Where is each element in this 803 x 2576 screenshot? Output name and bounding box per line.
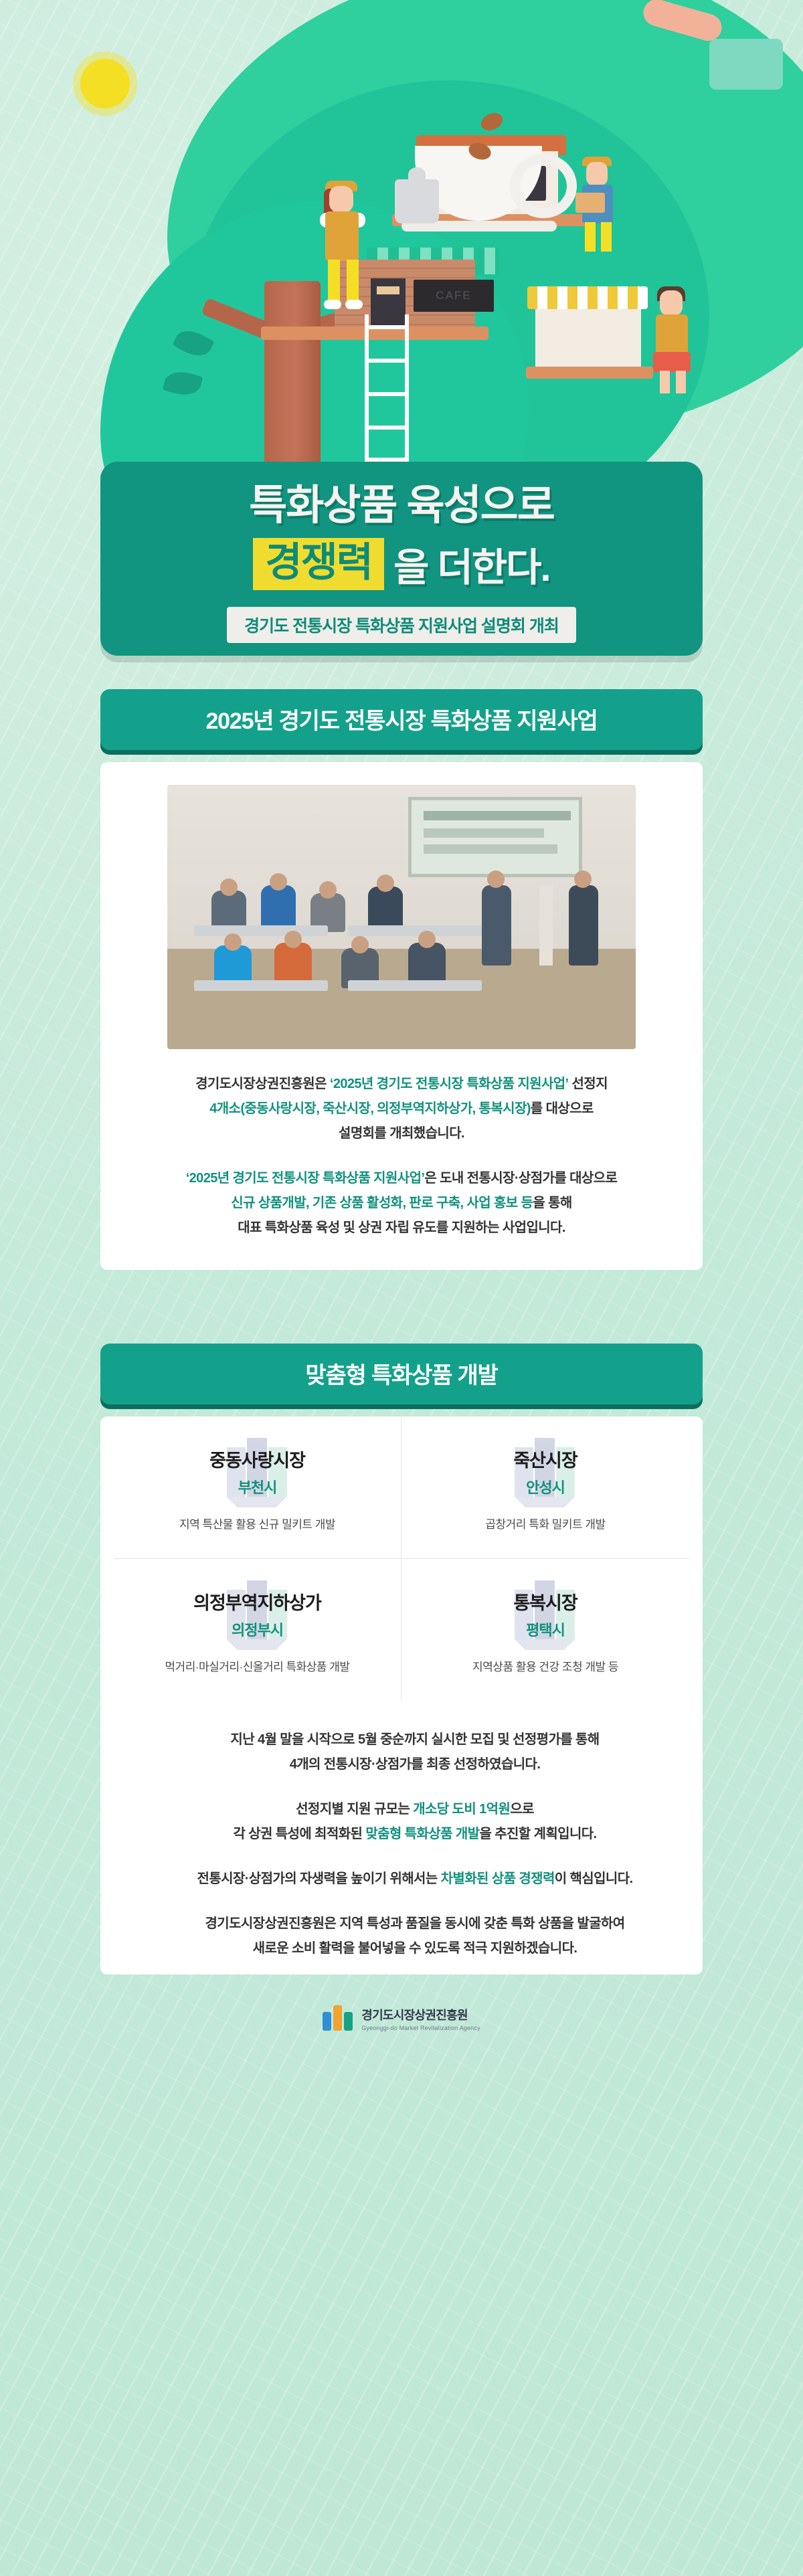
p1-l2-a: 4개소(중동사랑시장, 죽산시장, 의정부역지하상가, 통복시장) bbox=[209, 1101, 531, 1116]
watering-can-icon bbox=[709, 39, 783, 90]
c-p2-l1-c: 으로 bbox=[510, 1802, 534, 1817]
market-name: 중동사랑시장 bbox=[120, 1446, 394, 1472]
attendee-head bbox=[270, 873, 287, 891]
title-line-2-rest: 을 더한다. bbox=[393, 536, 550, 592]
p1-l3: 설명회를 개최했습니다. bbox=[339, 1126, 464, 1141]
baker-head bbox=[586, 162, 608, 186]
grocer-head bbox=[660, 290, 683, 316]
c-p2-l2-c: 을 추진할 계획입니다. bbox=[479, 1827, 596, 1841]
market-name: 의정부역지하상가 bbox=[120, 1588, 394, 1615]
title-highlight: 경쟁력 bbox=[253, 538, 384, 590]
organization-logo: 경기도시장상권진흥원 Gyeonggi-do Market Revitaliza… bbox=[323, 2005, 480, 2032]
attendee-head bbox=[224, 933, 242, 951]
section-support-program: 2025년 경기도 전통시장 특화상품 지원사업 bbox=[0, 689, 803, 1270]
p2-l2-b: 을 통해 bbox=[533, 1196, 571, 1210]
grocer-skirt bbox=[653, 352, 691, 372]
section-custom-products: 맞춤형 특화상품 개발 중동사랑시장 부천시 지역 특산물 활용 신규 밀키트 … bbox=[0, 1344, 803, 1974]
barista-shoe bbox=[345, 300, 363, 309]
presenter-head bbox=[574, 870, 592, 888]
c-p1-l1: 지난 4월 말을 시작으로 5월 중순까지 실시한 모집 및 선정평가를 통해 bbox=[230, 1732, 599, 1747]
closing-paragraph-2: 선정지별 지원 규모는 개소당 도비 1억원으로 각 상권 특성에 최적화된 맞… bbox=[141, 1797, 689, 1847]
sun-icon bbox=[80, 59, 130, 108]
hand-arm bbox=[640, 0, 725, 44]
grocer-leg bbox=[660, 371, 670, 393]
p1-l1-b: ‘2025년 경기도 전통시장 특화상품 지원사업’ bbox=[330, 1077, 569, 1091]
logo-mark-icon bbox=[323, 2005, 353, 2032]
logo-name-en: Gyeonggi-do Market Revitalization Agency bbox=[361, 2025, 480, 2031]
p2-l2-a: 신규 상품개발, 기존 상품 활성화, 판로 구축, 사업 홍보 등 bbox=[231, 1196, 533, 1210]
barista-leg bbox=[328, 260, 340, 301]
attendee-head bbox=[351, 936, 369, 953]
barista-apron bbox=[325, 211, 359, 261]
presenter-head bbox=[487, 870, 505, 888]
grocery-shop-illustration bbox=[522, 268, 709, 401]
watering-can-illustration bbox=[616, 0, 803, 114]
c-p3-c: 이 핵심입니다. bbox=[555, 1871, 633, 1886]
title-subtitle: 경기도 전통시장 특화상품 지원사업 설명회 개최 bbox=[227, 607, 576, 643]
grocer-body bbox=[656, 314, 688, 357]
c-p4-l1: 경기도시장상권진흥원은 지역 특성과 품질을 동시에 갖춘 특화 상품을 발굴하… bbox=[205, 1916, 624, 1931]
p1-l2-b: 를 대상으로 bbox=[531, 1101, 594, 1116]
market-name: 죽산시장 bbox=[408, 1446, 683, 1472]
attendee-head bbox=[220, 879, 238, 896]
grocery-counter bbox=[526, 367, 653, 379]
c-p3-a: 전통시장·상점가의 자생력을 높이기 위해서는 bbox=[197, 1871, 441, 1886]
poster-page: CAFE bbox=[0, 0, 803, 2576]
closing-paragraph-1: 지난 4월 말을 시작으로 5월 중순까지 실시한 모집 및 선정평가를 통해 … bbox=[141, 1728, 689, 1777]
market-card: 통복시장 평택시 지역상품 활용 건강 조청 개발 등 bbox=[401, 1559, 689, 1701]
market-desc: 먹거리·마실거리·신올거리 특화상품 개발 bbox=[120, 1657, 394, 1674]
grocery-wall bbox=[535, 309, 641, 367]
barista-head bbox=[329, 186, 353, 213]
p2-l1-b: 은 도내 전통시장·상점가를 대상으로 bbox=[424, 1171, 617, 1186]
grocer-leg bbox=[676, 371, 686, 393]
market-card: 중동사랑시장 부천시 지역 특산물 활용 신규 밀키트 개발 bbox=[114, 1416, 401, 1559]
market-city: 안성시 bbox=[408, 1476, 683, 1497]
section1-body: 경기도시장상권진흥원은 ‘2025년 경기도 전통시장 특화상품 지원사업’ 선… bbox=[100, 762, 703, 1270]
section1-heading: 2025년 경기도 전통시장 특화상품 지원사업 bbox=[100, 689, 703, 750]
teapot-icon bbox=[395, 179, 439, 223]
grocery-awning bbox=[527, 286, 648, 309]
c-p2-l1-a: 선정지별 지원 규모는 bbox=[296, 1802, 413, 1817]
cafe-sign: CAFE bbox=[414, 280, 494, 312]
flag-stand bbox=[539, 885, 553, 965]
market-desc: 지역상품 활용 건강 조청 개발 등 bbox=[408, 1657, 683, 1674]
baker-leg bbox=[585, 222, 596, 252]
section2-body: 중동사랑시장 부천시 지역 특산물 활용 신규 밀키트 개발 죽산시장 안성시 … bbox=[100, 1416, 703, 1974]
c-p3-b: 차별화된 상품 경쟁력 bbox=[441, 1871, 555, 1886]
closing-paragraph-4: 경기도시장상권진흥원은 지역 특성과 품질을 동시에 갖춘 특화 상품을 발굴하… bbox=[141, 1912, 689, 1961]
desk bbox=[348, 925, 482, 936]
desk bbox=[194, 980, 328, 991]
closing-paragraph-3: 전통시장·상점가의 자생력을 높이기 위해서는 차별화된 상품 경쟁력이 핵심입… bbox=[141, 1867, 689, 1892]
baker-leg bbox=[601, 222, 612, 252]
attendee-head bbox=[319, 881, 337, 899]
barista-leg bbox=[347, 260, 359, 301]
c-p2-l2-a: 각 상권 특성에 최적화된 bbox=[233, 1827, 365, 1841]
market-city: 의정부시 bbox=[120, 1619, 394, 1640]
market-city: 평택시 bbox=[408, 1619, 683, 1640]
poster-title-card: 특화상품 육성으로 경쟁력 을 더한다. 경기도 전통시장 특화상품 지원사업 … bbox=[100, 462, 703, 656]
projector-screen bbox=[408, 797, 582, 877]
p1-l1-c: 선정지 bbox=[569, 1077, 608, 1091]
market-desc: 지역 특산물 활용 신규 밀키트 개발 bbox=[120, 1515, 394, 1532]
ladder-icon bbox=[365, 314, 409, 468]
title-line-1: 특화상품 육성으로 bbox=[100, 482, 703, 529]
desk bbox=[348, 980, 482, 991]
market-card-grid: 중동사랑시장 부천시 지역 특산물 활용 신규 밀키트 개발 죽산시장 안성시 … bbox=[114, 1416, 689, 1701]
barista-shoe bbox=[324, 300, 341, 309]
presenter bbox=[569, 885, 598, 965]
market-desc: 곱창거리 특화 밀키트 개발 bbox=[408, 1515, 683, 1532]
attendee-head bbox=[418, 931, 436, 948]
market-card: 죽산시장 안성시 곱창거리 특화 밀키트 개발 bbox=[401, 1416, 689, 1559]
presenter bbox=[482, 885, 511, 965]
section2-closing: 지난 4월 말을 시작으로 5월 중순까지 실시한 모집 및 선정평가를 통해 … bbox=[114, 1701, 716, 1968]
market-city: 부천시 bbox=[120, 1476, 394, 1497]
cafe-sign-label: CAFE bbox=[414, 280, 494, 312]
footer: 경기도시장상권진흥원 Gyeonggi-do Market Revitaliza… bbox=[0, 1974, 803, 2062]
logo-name-ko: 경기도시장상권진흥원 bbox=[361, 2006, 480, 2023]
attendee-head bbox=[377, 875, 394, 892]
grocer-character bbox=[641, 282, 708, 396]
p2-l1-a: ‘2025년 경기도 전통시장 특화상품 지원사업’ bbox=[186, 1171, 425, 1186]
hero-illustration: CAFE bbox=[0, 0, 803, 468]
section1-paragraph-2: ‘2025년 경기도 전통시장 특화상품 지원사업’은 도내 전통시장·상점가를… bbox=[127, 1166, 676, 1240]
desk bbox=[194, 925, 328, 936]
market-card: 의정부역지하상가 의정부시 먹거리·마실거리·신올거리 특화상품 개발 bbox=[114, 1559, 401, 1701]
market-name: 통복시장 bbox=[408, 1588, 683, 1615]
baker-character bbox=[570, 154, 630, 254]
barista-character bbox=[308, 179, 381, 313]
section2-heading: 맞춤형 특화상품 개발 bbox=[100, 1344, 703, 1404]
c-p2-l2-b: 맞춤형 특화상품 개발 bbox=[365, 1827, 479, 1841]
c-p1-l2: 4개의 전통시장·상점가를 최종 선정하였습니다. bbox=[290, 1757, 541, 1772]
briefing-photo bbox=[167, 785, 636, 1049]
logo-text: 경기도시장상권진흥원 Gyeonggi-do Market Revitaliza… bbox=[361, 2006, 480, 2031]
c-p2-l1-b: 개소당 도비 1억원 bbox=[413, 1802, 510, 1817]
p2-l3: 대표 특화상품 육성 및 상권 자립 유도를 지원하는 사업입니다. bbox=[238, 1220, 565, 1235]
title-line-2: 경쟁력 을 더한다. bbox=[100, 536, 703, 592]
c-p4-l2: 새로운 소비 활력을 불어넣을 수 있도록 적극 지원하겠습니다. bbox=[253, 1941, 577, 1956]
section1-paragraph-1: 경기도시장상권진흥원은 ‘2025년 경기도 전통시장 특화상품 지원사업’ 선… bbox=[127, 1072, 676, 1146]
attendee-head bbox=[284, 931, 302, 948]
p1-l1-a: 경기도시장상권진흥원은 bbox=[195, 1077, 330, 1091]
bread-box-icon bbox=[575, 193, 605, 213]
